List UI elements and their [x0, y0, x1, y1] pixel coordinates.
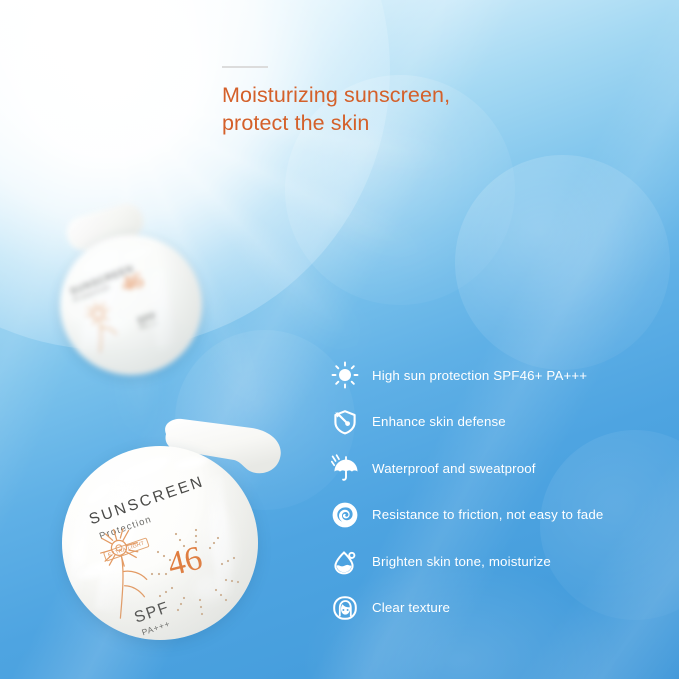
feature-label: Enhance skin defense — [372, 414, 506, 429]
feature-item-skin-defense: Enhance skin defense — [330, 399, 603, 446]
feature-label: Clear texture — [372, 600, 450, 615]
feature-label: Waterproof and sweatproof — [372, 461, 536, 476]
face-icon — [330, 593, 360, 623]
product-sachet-back: SUNSCREEN Protection 46 SPF PA+++ — [52, 210, 227, 380]
feature-item-sun-protection: High sun protection SPF46+ PA+++ — [330, 352, 603, 399]
feature-item-clear-texture: Clear texture — [330, 585, 603, 632]
feature-label: Resistance to friction, not easy to fade — [372, 507, 603, 522]
feature-label: High sun protection SPF46+ PA+++ — [372, 368, 587, 383]
feature-label: Brighten skin tone, moisturize — [372, 554, 551, 569]
sun-icon — [330, 360, 360, 390]
bokeh-circle — [455, 155, 670, 370]
feature-item-waterproof: Waterproof and sweatproof — [330, 445, 603, 492]
headline-block: Moisturizing sunscreen, protect the skin — [222, 66, 642, 137]
sachet-disc: SUNSCREEN Protection 46 SPF PA+++ — [60, 235, 202, 375]
shield-icon — [330, 407, 360, 437]
swirl-icon — [330, 500, 360, 530]
droplet-icon — [330, 546, 360, 576]
product-sachet-front: SUNSCREEN Protection EXTRA LIGHT — [60, 418, 300, 643]
feature-list: High sun protection SPF46+ PA+++ Enhance… — [330, 352, 603, 631]
headline-divider — [222, 66, 268, 68]
page-title: Moisturizing sunscreen, protect the skin — [222, 81, 642, 137]
sachet-disc: SUNSCREEN Protection EXTRA LIGHT — [62, 446, 258, 640]
feature-item-friction-resistance: Resistance to friction, not easy to fade — [330, 492, 603, 539]
umbrella-icon — [330, 453, 360, 483]
feature-item-brighten-skin: Brighten skin tone, moisturize — [330, 538, 603, 585]
product-marketing-poster: Moisturizing sunscreen, protect the skin… — [0, 0, 679, 679]
